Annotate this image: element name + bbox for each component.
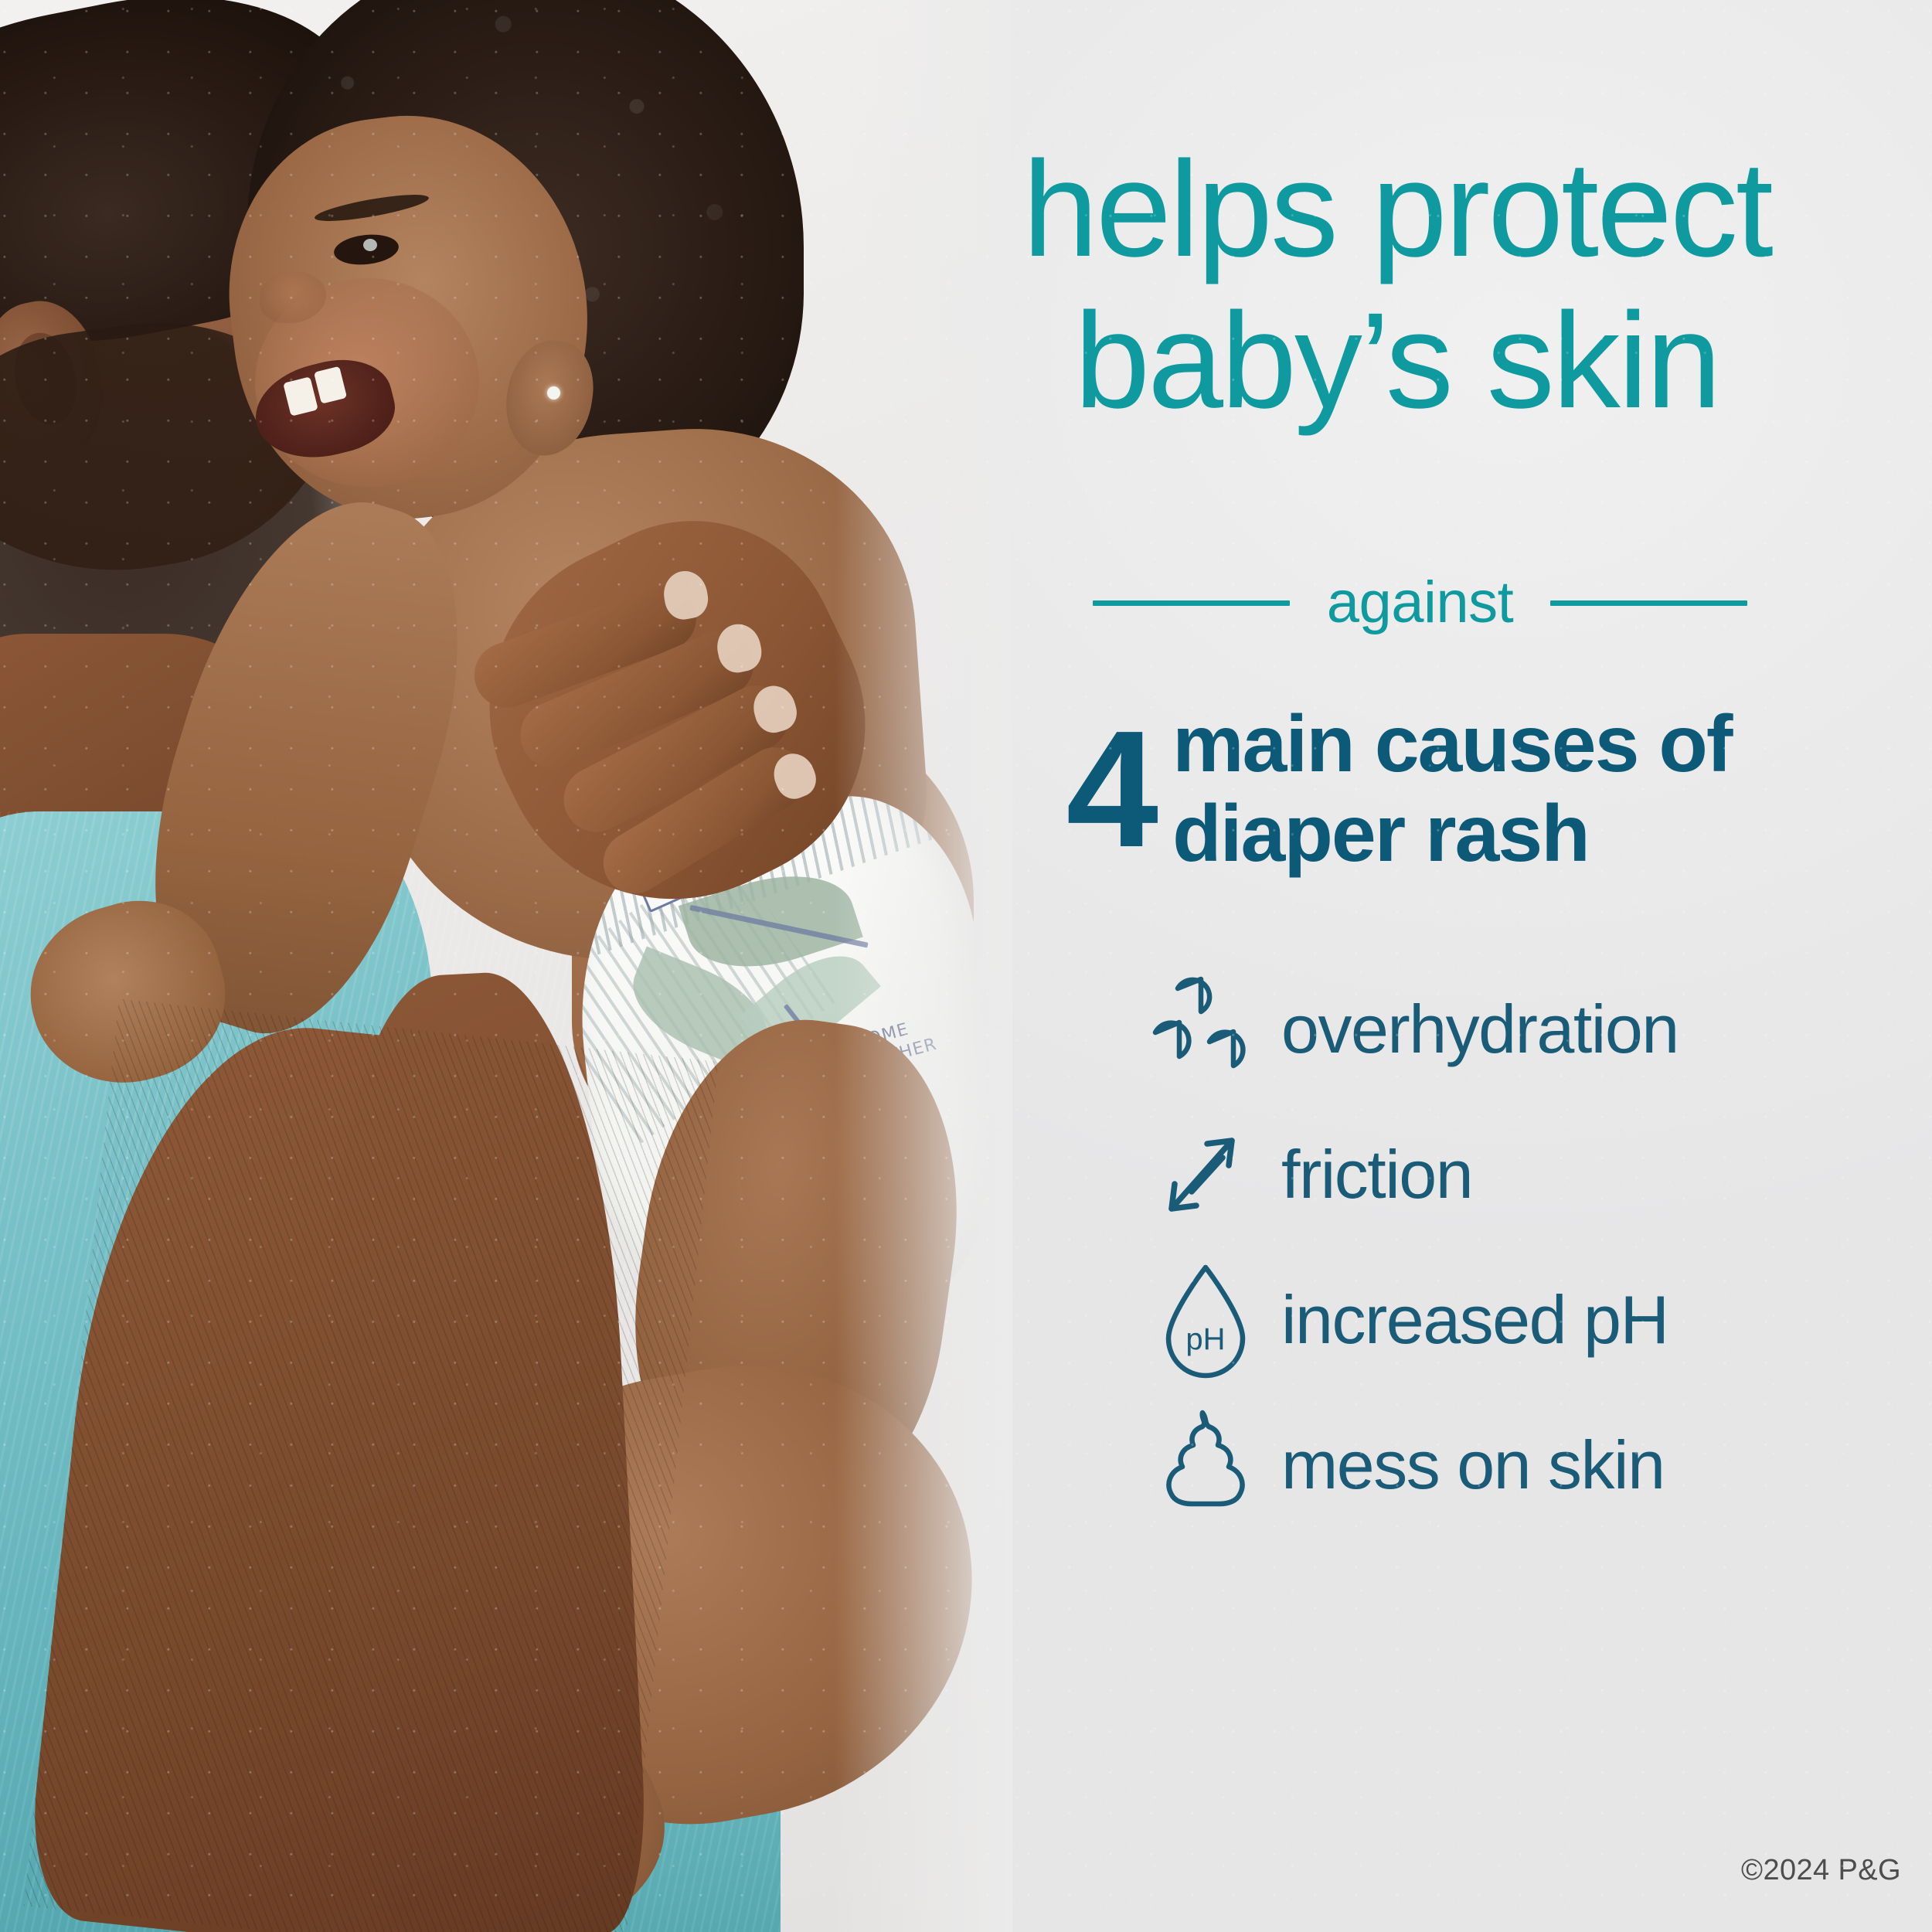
subheading: 4 main causes of diaper rash	[912, 699, 1886, 879]
baby-tooth	[283, 376, 318, 416]
subheading-line-2: diaper rash	[1172, 789, 1731, 879]
headline-line-1: helps protect	[1022, 134, 1771, 285]
cause-label-mess-on-skin: mess on skin	[1267, 1431, 1665, 1499]
copy-panel: helps protect baby’s skin against 4 main…	[912, 0, 1932, 1932]
svg-text:pH: pH	[1185, 1322, 1225, 1356]
copyright-notice: ©2024 P&G	[1741, 1854, 1901, 1887]
cause-row-overhydration: overhydration	[1144, 957, 1901, 1102]
mess-stool-icon	[1144, 1406, 1267, 1524]
baby-earring	[547, 386, 560, 400]
divider-rule-right	[1550, 600, 1747, 606]
cause-label-friction: friction	[1267, 1141, 1472, 1209]
cause-row-friction: friction	[1144, 1102, 1901, 1247]
subheading-lines: main causes of diaper rash	[1172, 699, 1731, 879]
causes-list: overhydration friction	[1144, 957, 1901, 1538]
subheading-line-1: main causes of	[1172, 699, 1731, 789]
cause-label-increased-ph: increased pH	[1267, 1286, 1668, 1354]
father-arm-hair	[23, 998, 718, 1932]
against-label: against	[1327, 573, 1514, 632]
cause-row-increased-ph: pH increased pH	[1144, 1247, 1901, 1393]
ph-droplet-icon: pH	[1144, 1260, 1267, 1380]
page-title: helps protect baby’s skin	[912, 141, 1882, 429]
water-droplets-icon	[1144, 971, 1267, 1087]
hero-photo: back COME TOGETHER	[0, 0, 1012, 1932]
poster-canvas: back COME TOGETHER	[0, 0, 1932, 1932]
double-arrow-friction-icon	[1144, 1121, 1267, 1229]
headline-line-2: baby’s skin	[912, 293, 1882, 429]
cause-label-overhydration: overhydration	[1267, 995, 1679, 1063]
cause-row-mess-on-skin: mess on skin	[1144, 1393, 1901, 1538]
causes-count: 4	[1066, 718, 1155, 861]
against-divider: against	[958, 573, 1882, 632]
baby-tooth	[314, 366, 347, 404]
baby-eye-highlight	[363, 239, 377, 251]
divider-rule-left	[1093, 600, 1290, 606]
